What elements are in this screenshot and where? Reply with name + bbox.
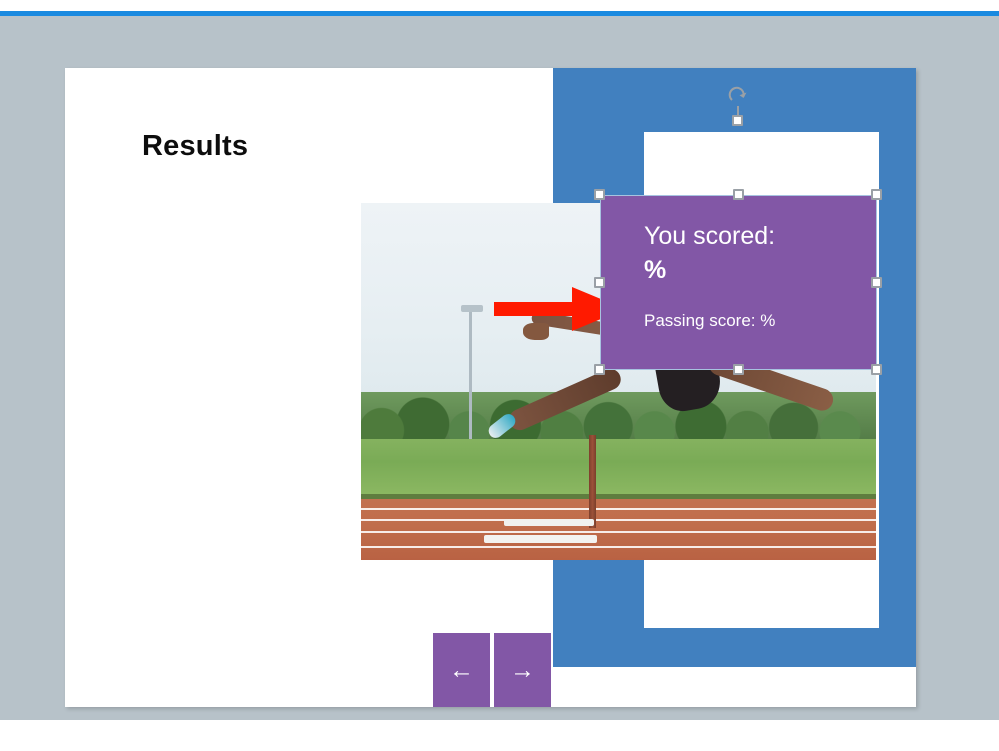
resize-handle-bottom-right[interactable] xyxy=(871,364,882,375)
photo-hurdle-base xyxy=(504,519,594,526)
photo-light-pole-head xyxy=(461,305,483,312)
slide-nav-buttons: ← → xyxy=(433,633,551,707)
top-white-strip xyxy=(0,0,999,11)
rotate-handle[interactable] xyxy=(732,115,743,126)
resize-handle-bottom-left[interactable] xyxy=(594,364,605,375)
page-title: Results xyxy=(142,130,248,163)
bottom-white-strip xyxy=(0,720,999,751)
callout-score-value: % xyxy=(644,256,666,285)
photo-hurdle-post xyxy=(589,435,596,528)
photo-grass-field xyxy=(361,439,876,496)
photo-lane-line xyxy=(361,531,876,533)
prev-button[interactable]: ← xyxy=(433,633,490,707)
photo-lane-line xyxy=(361,546,876,548)
score-callout-shape[interactable]: You scored: % Passing score: % xyxy=(600,195,877,370)
callout-scored-label: You scored: xyxy=(644,222,775,251)
rotate-handle-icon[interactable] xyxy=(727,85,749,107)
callout-passing-score: Passing score: % xyxy=(644,311,775,331)
resize-handle-top-left[interactable] xyxy=(594,189,605,200)
resize-handle-middle-left[interactable] xyxy=(594,277,605,288)
resize-handle-bottom-center[interactable] xyxy=(733,364,744,375)
slide-canvas[interactable]: Results xyxy=(65,68,916,707)
resize-handle-top-right[interactable] xyxy=(871,189,882,200)
next-button[interactable]: → xyxy=(494,633,551,707)
resize-handle-top-center[interactable] xyxy=(733,189,744,200)
screenshot-root: Results xyxy=(0,0,999,751)
photo-hurdle-base xyxy=(484,535,597,543)
photo-lane-line xyxy=(361,519,876,521)
photo-athlete-hand xyxy=(523,323,549,340)
photo-lane-line xyxy=(361,508,876,510)
editor-workspace: Results xyxy=(0,16,999,720)
resize-handle-middle-right[interactable] xyxy=(871,277,882,288)
